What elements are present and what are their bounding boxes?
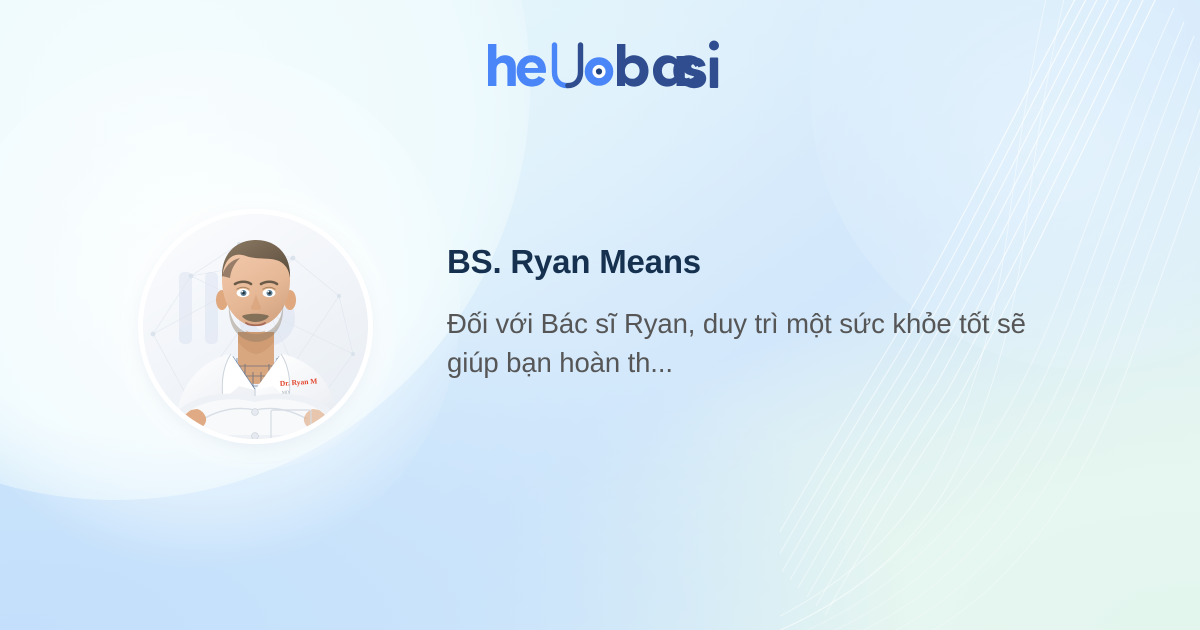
site-logo[interactable]: hellobacsi xyxy=(0,42,1200,94)
svg-text:MD: MD xyxy=(282,389,290,395)
doctor-name: BS. Ryan Means xyxy=(447,243,1087,282)
doctor-description: Đối với Bác sĩ Ryan, duy trì một sức khỏ… xyxy=(447,304,1047,382)
doctor-info: BS. Ryan Means Đối với Bác sĩ Ryan, duy … xyxy=(447,243,1087,382)
hellobacsi-logo-dot-icon xyxy=(708,37,722,95)
doctor-portrait-image: Dr. Ryan M MD xyxy=(143,214,368,439)
avatar: Dr. Ryan M MD xyxy=(143,214,368,439)
